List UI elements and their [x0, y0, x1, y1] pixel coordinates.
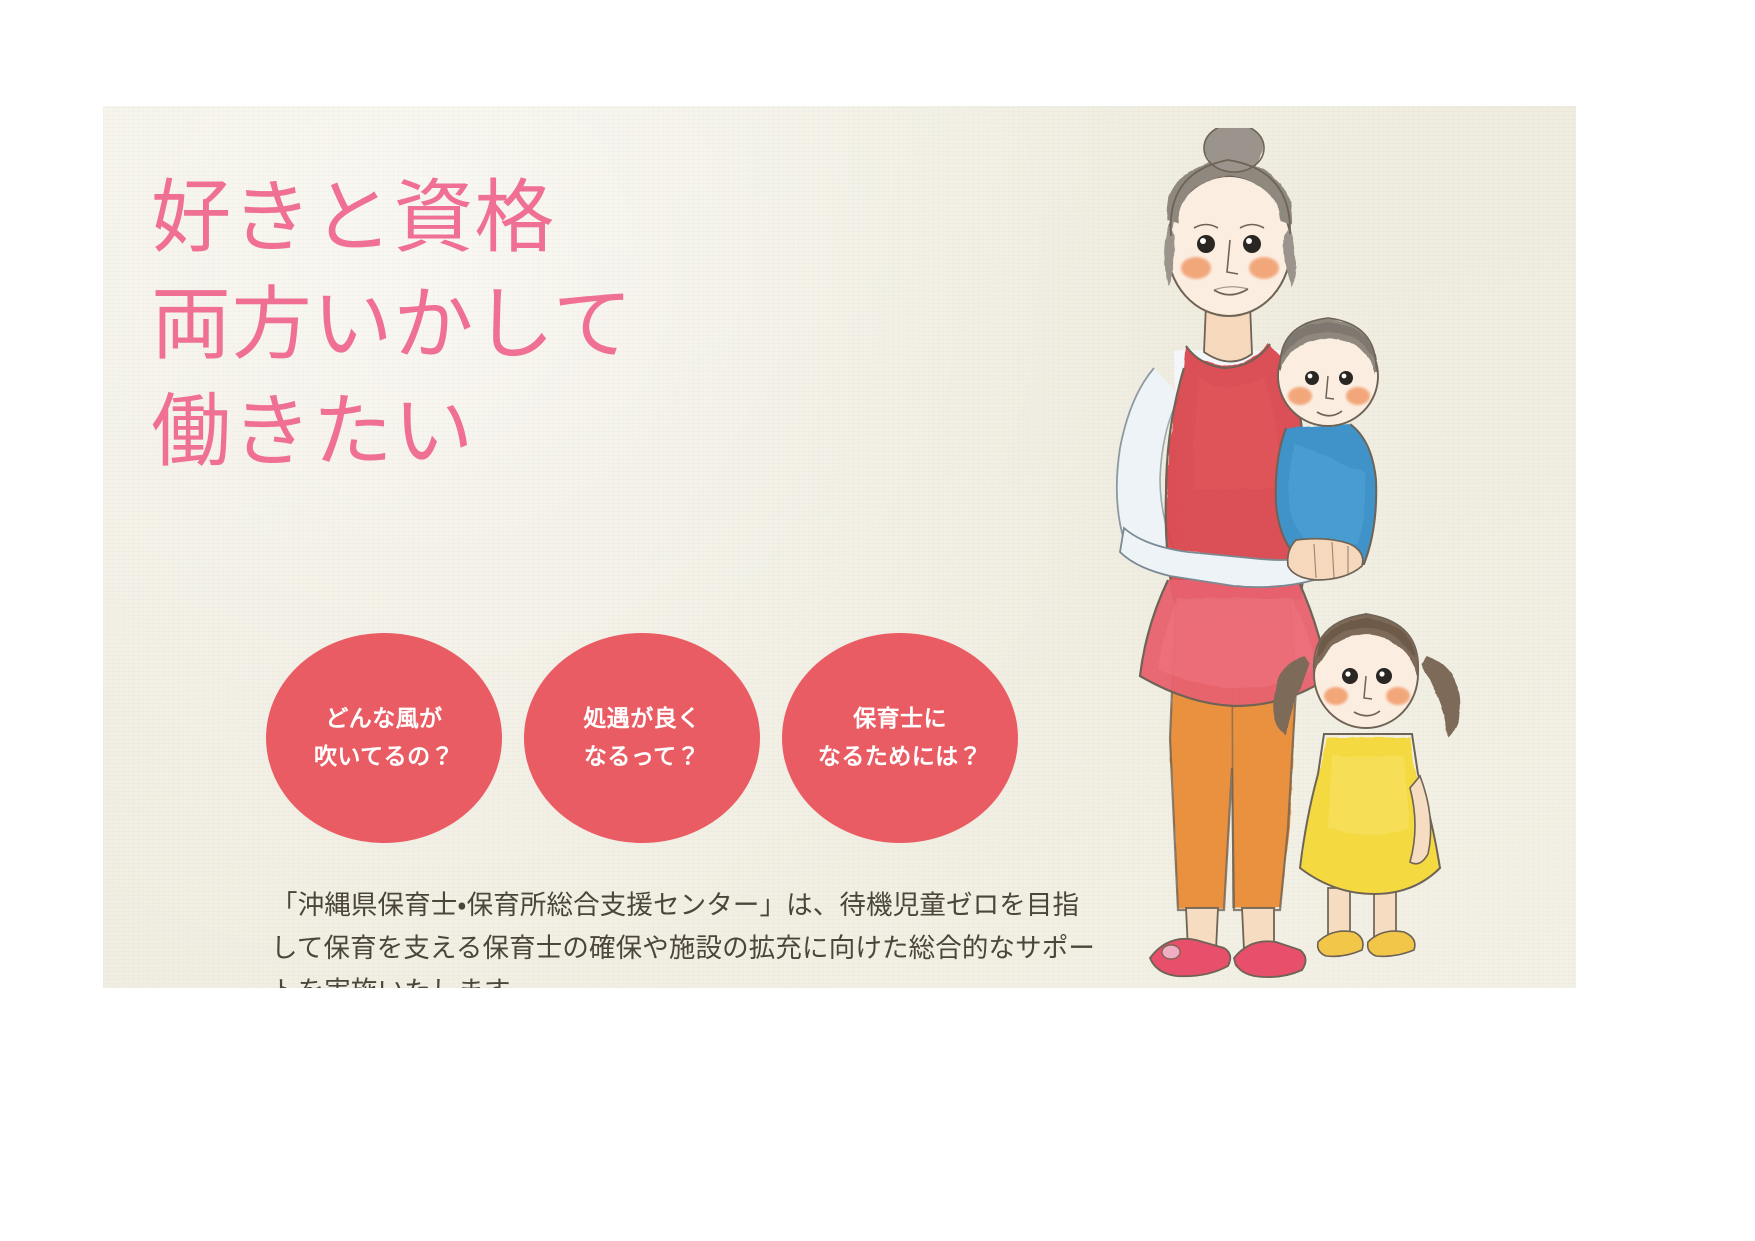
circle-2-line-2: なるって？ — [584, 738, 700, 776]
circle-3-line-2: なるためには？ — [818, 738, 982, 776]
adult-eye-left — [1197, 235, 1215, 253]
girl-eye-left — [1342, 668, 1358, 684]
lead-paragraph: 「沖縄県保育士・保育所総合支援センター」は、待機児童ゼロを目指 して保育を支える… — [271, 884, 1071, 988]
page-title: 好きと資格 両方いかして 働きたい — [151, 164, 981, 486]
adult-eye-right — [1243, 235, 1261, 253]
circle-1-line-2: 吹いてるの？ — [314, 738, 454, 776]
adult-head — [1164, 128, 1296, 362]
circle-button-shogu[interactable]: 処遇が良く なるって？ — [524, 633, 760, 843]
page-root: 好きと資格 両方いかして 働きたい どんな風が 吹いてるの？ 処遇が良く なるっ… — [0, 0, 1755, 1241]
boy-eye-left — [1305, 371, 1319, 385]
circle-button-hoikushi[interactable]: 保育士に なるためには？ — [782, 633, 1018, 843]
lead-line-1: 「沖縄県保育士・保育所総合支援センター」は、待機児童ゼロを目指 — [271, 884, 1071, 927]
hero-panel: 好きと資格 両方いかして 働きたい どんな風が 吹いてるの？ 処遇が良く なるっ… — [103, 106, 1576, 988]
circle-2-line-1: 処遇が良く — [583, 700, 700, 738]
boy-eye-right — [1339, 371, 1353, 385]
copy-column: 好きと資格 両方いかして 働きたい — [151, 164, 981, 486]
circle-1-line-1: どんな風が — [325, 700, 442, 738]
child-boy — [1276, 318, 1378, 564]
girl-eye-right — [1376, 668, 1392, 684]
caregiver-with-two-children-illustration — [1028, 128, 1498, 988]
headline-line-3: 働きたい — [151, 378, 981, 485]
lead-line-2: して保育を支える保育士の確保や施設の拡充に向けた総合的なサポー — [271, 927, 1071, 970]
circle-nav-group: どんな風が 吹いてるの？ 処遇が良く なるって？ 保育士に なるためには？ — [266, 633, 1018, 843]
headline-line-2: 両方いかして — [151, 271, 981, 378]
circle-3-line-1: 保育士に — [853, 700, 947, 738]
headline-line-1: 好きと資格 — [151, 164, 981, 271]
child-girl — [1273, 614, 1461, 956]
circle-button-donna-kaze[interactable]: どんな風が 吹いてるの？ — [266, 633, 502, 843]
lead-line-3: トを実施いたします。 — [271, 970, 1071, 988]
